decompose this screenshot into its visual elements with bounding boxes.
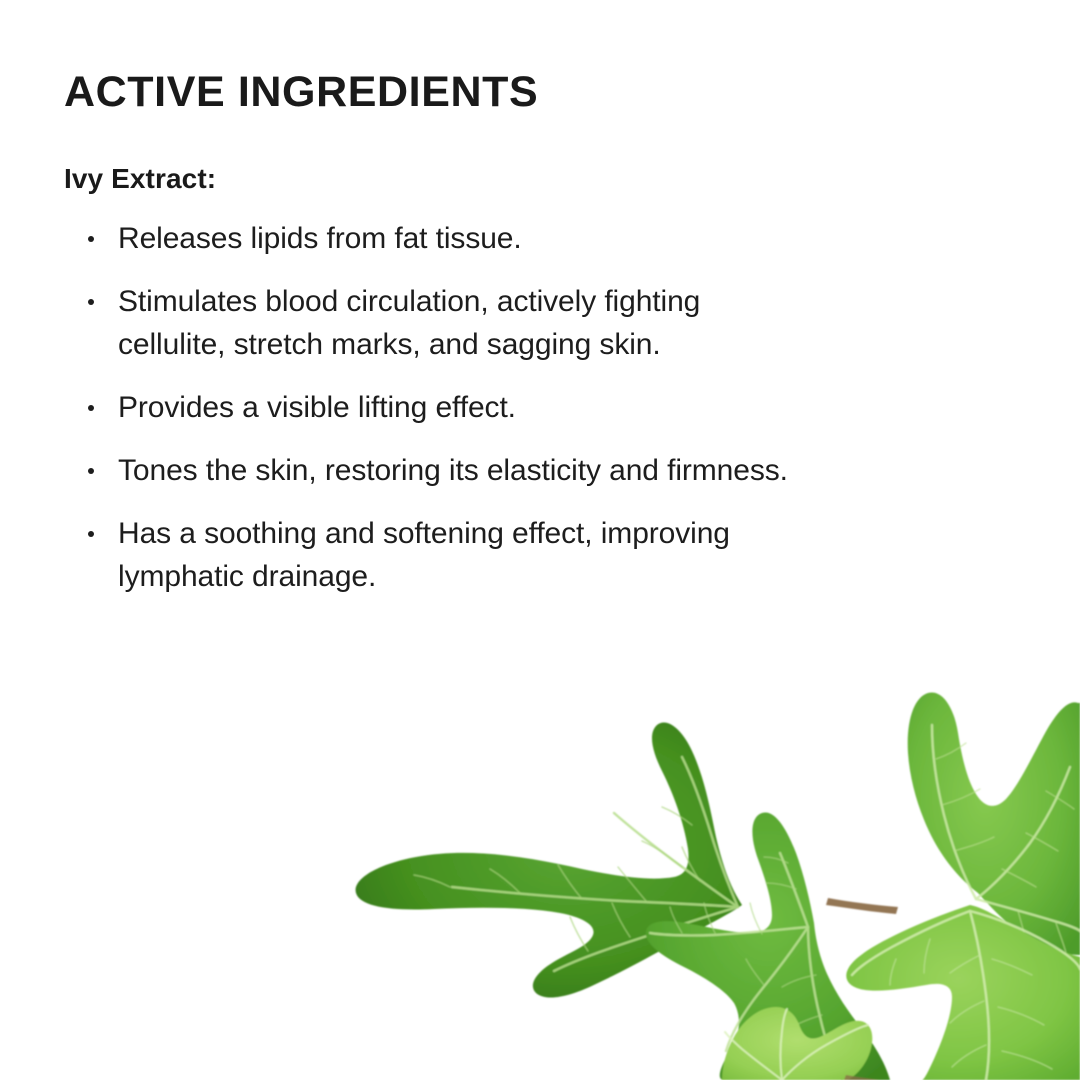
list-item: Has a soothing and softening effect, imp… [64, 512, 790, 598]
bullet-dot-icon [88, 405, 94, 411]
ingredient-subtitle: Ivy Extract: [64, 163, 824, 195]
ivy-leaves-image [330, 655, 1080, 1080]
page-title: ACTIVE INGREDIENTS [64, 70, 824, 115]
list-item: Provides a visible lifting effect. [64, 386, 790, 429]
list-item: Stimulates blood circulation, actively f… [64, 280, 790, 366]
benefits-list: Releases lipids from fat tissue. Stimula… [64, 217, 824, 598]
list-item-text: Releases lipids from fat tissue. [118, 222, 522, 255]
list-item-text: Stimulates blood circulation, actively f… [118, 285, 700, 361]
bullet-dot-icon [88, 531, 94, 537]
content-block: ACTIVE INGREDIENTS Ivy Extract: Releases… [64, 70, 824, 598]
slide-root: ACTIVE INGREDIENTS Ivy Extract: Releases… [0, 0, 1080, 1080]
list-item-text: Tones the skin, restoring its elasticity… [118, 454, 788, 487]
list-item: Releases lipids from fat tissue. [64, 217, 790, 260]
list-item: Tones the skin, restoring its elasticity… [64, 449, 790, 492]
list-item-text: Has a soothing and softening effect, imp… [118, 517, 730, 593]
list-item-text: Provides a visible lifting effect. [118, 391, 516, 424]
bullet-dot-icon [88, 468, 94, 474]
bullet-dot-icon [88, 236, 94, 242]
bullet-dot-icon [88, 299, 94, 305]
